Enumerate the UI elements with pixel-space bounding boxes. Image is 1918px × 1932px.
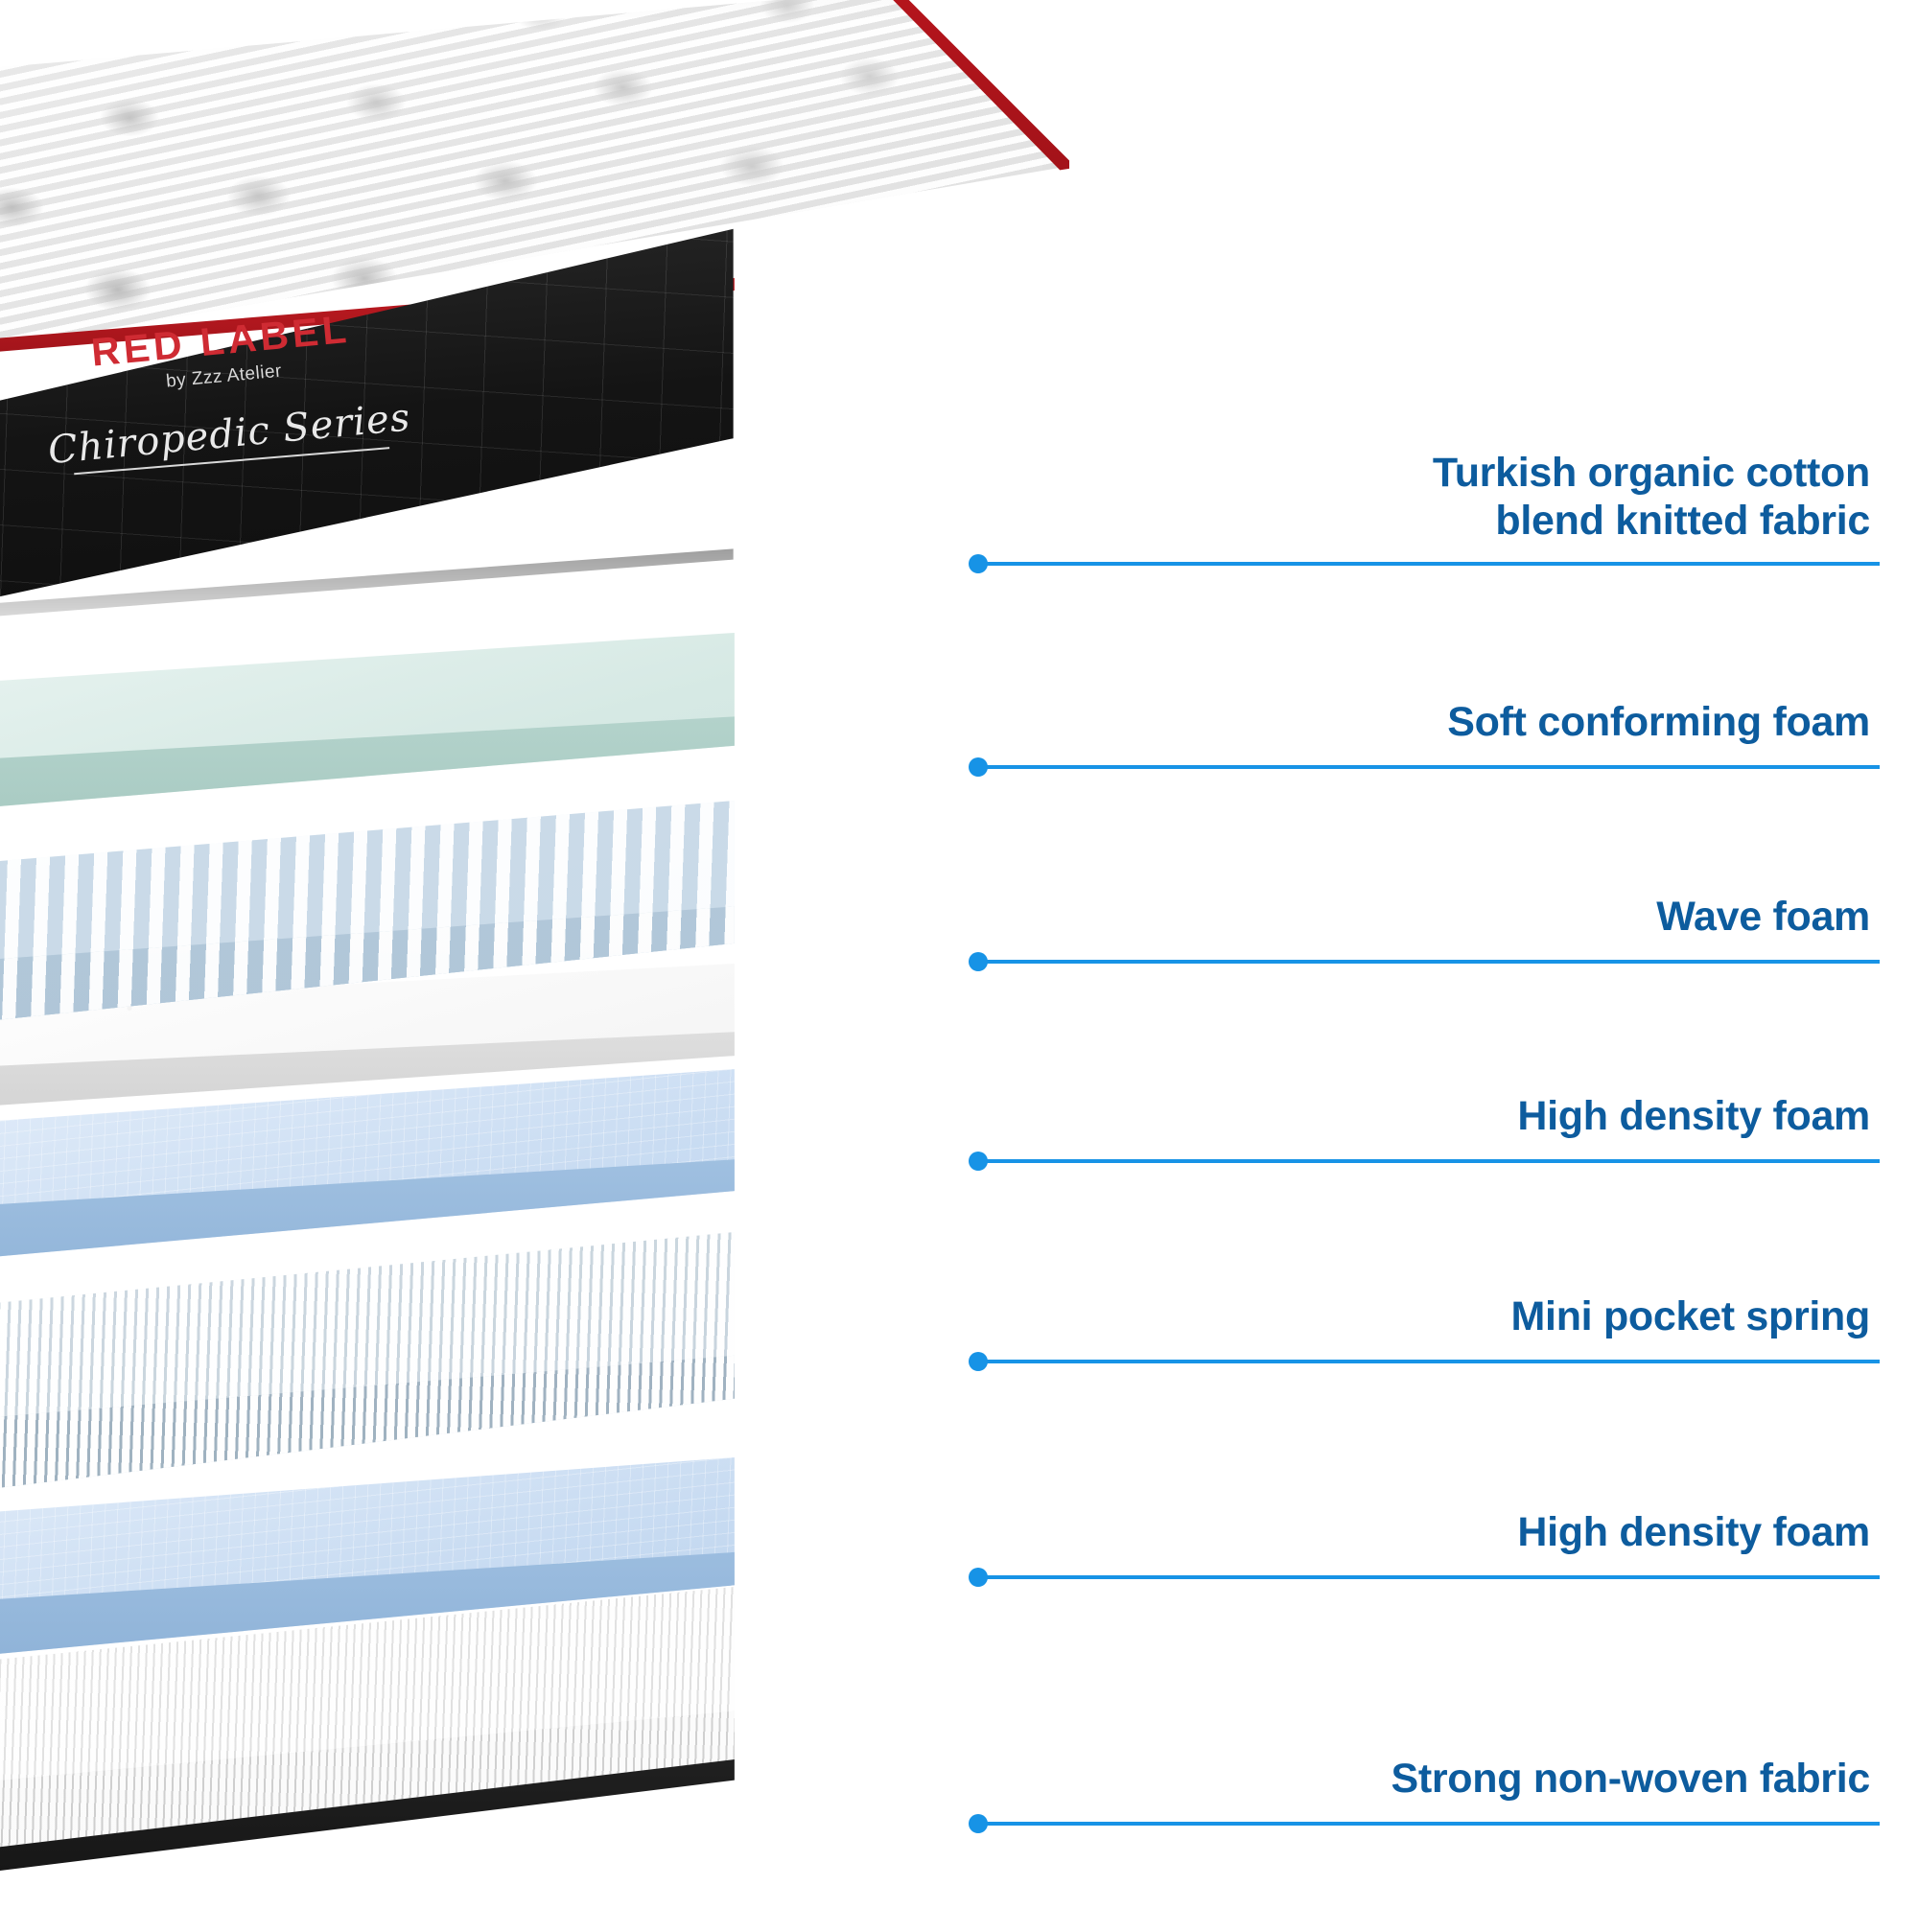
callout-label: Soft conforming foam <box>1007 698 1870 746</box>
layer-soft-conforming-foam <box>0 633 1069 815</box>
callout-leader-line <box>978 1360 1880 1363</box>
callout-label: Mini pocket spring <box>1007 1292 1870 1340</box>
callout-leader-line <box>978 562 1880 566</box>
callout-leader-line <box>978 960 1880 964</box>
callout-label: High density foam <box>1007 1092 1870 1140</box>
callout-label: High density foam <box>1007 1508 1870 1556</box>
layer-mini-pocket-spring <box>0 1232 1069 1501</box>
callout-label: Wave foam <box>1007 893 1870 941</box>
mattress-layer-diagram: RED LABEL by Zzz Atelier Chiropedic Seri… <box>0 0 1918 1918</box>
layer-mattress-top-cover: RED LABEL by Zzz Atelier Chiropedic Seri… <box>0 0 1069 652</box>
callout-leader-line <box>978 765 1880 769</box>
callout-leader-line <box>978 1575 1880 1579</box>
callout-label: Strong non-woven fabric <box>1007 1755 1870 1803</box>
callout-leader-line <box>978 1822 1880 1826</box>
callout-label: Turkish organic cotton blend knitted fab… <box>1007 449 1870 546</box>
layer-wave-foam <box>0 801 1069 1031</box>
callout-leader-line <box>978 1159 1880 1163</box>
